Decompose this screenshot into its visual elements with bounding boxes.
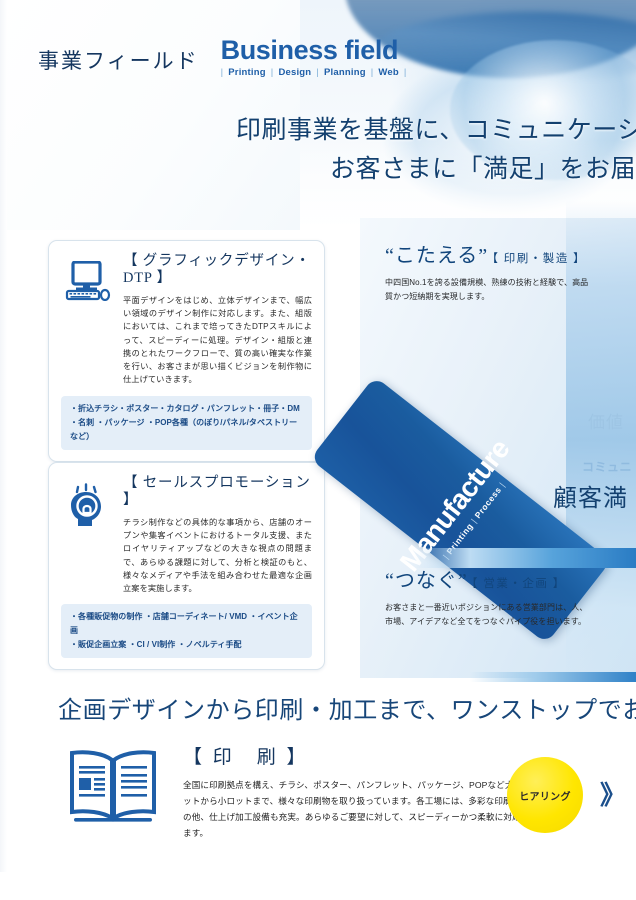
- quote-close: ”: [458, 570, 468, 592]
- header-sub-web: Web: [378, 67, 398, 78]
- chevron-right-icon: 》: [600, 782, 626, 808]
- brochure-page: 事業フィールド Business field | Printing | Desi…: [0, 0, 636, 900]
- divider: |: [221, 67, 224, 78]
- panel-title-row: “こたえる”【 印刷・製造 】: [385, 245, 635, 267]
- panel-bracket-label: 【 営業・企画 】: [472, 578, 566, 590]
- quote-open: “: [385, 245, 395, 267]
- divider: |: [316, 67, 319, 78]
- panel-title: こたえる: [395, 245, 478, 267]
- card-title: 【 グラフィックデザイン・DTP 】: [123, 253, 312, 288]
- hero-line-2: お客さまに「満足」をお届: [236, 151, 636, 190]
- quote-close: ”: [478, 245, 488, 267]
- blue-gradient-strip-lower: [470, 672, 636, 682]
- quote-open: “: [385, 570, 395, 592]
- card-tag-line: ・折込チラシ・ポスター・カタログ・パンフレット・冊子・DM: [70, 402, 303, 416]
- hearing-badge[interactable]: ヒアリング: [507, 757, 583, 833]
- open-book-icon: [60, 742, 165, 842]
- desktop-computer-icon: [61, 253, 115, 387]
- header-en-title: Business field: [221, 36, 407, 64]
- hero-headline: 印刷事業を基盤に、コミュニケーショ お客さまに「満足」をお届: [236, 112, 636, 190]
- page-edge-bottom: [0, 872, 636, 900]
- header-sub-design: Design: [278, 67, 311, 78]
- card-title: 【 セールスプロモーション 】: [123, 475, 312, 510]
- ghost-word-kachi: 価値: [588, 408, 624, 433]
- card-tag-line: ・名刺 ・パッケージ ・POP各種（のぼり/パネル/タペストリーなど）: [70, 416, 303, 444]
- card-tag-line: ・各種販促物の制作 ・店舗コーディネート/ VMD ・イベント企画: [70, 610, 303, 638]
- head-lightbulb-icon: [61, 475, 115, 595]
- card-description: チラシ制作などの具体的な事項から、店舗のオープンや集客イベントにおけるトータル支…: [123, 516, 312, 596]
- ghost-word-kokyaku: 顧客満: [553, 478, 628, 513]
- card-header: 【 セールスプロモーション 】 チラシ制作などの具体的な事項から、店舗のオープン…: [61, 475, 312, 595]
- header-en-block: Business field | Printing | Design | Pla…: [221, 36, 407, 78]
- panel-kotaeru: “こたえる”【 印刷・製造 】 中四国No.1を誇る設備規模、熟練の技術と経験で…: [385, 245, 635, 304]
- card-graphic-design-dtp[interactable]: 【 グラフィックデザイン・DTP 】 平面デザインをはじめ、立体デザインまで、幅…: [48, 240, 325, 462]
- card-body: 【 グラフィックデザイン・DTP 】 平面デザインをはじめ、立体デザインまで、幅…: [123, 253, 312, 387]
- panel-description: お客さまと一番近いポジションにある営業部門は、人、市場、アイデアなど全てをつなぐ…: [385, 601, 590, 629]
- card-header: 【 グラフィックデザイン・DTP 】 平面デザインをはじめ、立体デザインまで、幅…: [61, 253, 312, 387]
- blue-gradient-strip: [415, 548, 636, 568]
- header-subtitle-list: | Printing | Design | Planning | Web |: [221, 67, 407, 78]
- panel-description: 中四国No.1を誇る設備規模、熟練の技術と経験で、高品質かつ短納期を実現します。: [385, 276, 590, 304]
- divider: |: [271, 67, 274, 78]
- hearing-label: ヒアリング: [519, 788, 571, 803]
- header-jp-title: 事業フィールド: [38, 51, 199, 78]
- header-sub-printing: Printing: [228, 67, 266, 78]
- print-section: 【 印 刷 】 全国に印刷拠点を構え、チラシ、ポスター、パンフレット、パッケージ…: [60, 742, 530, 842]
- header-sub-planning: Planning: [324, 67, 366, 78]
- divider: |: [371, 67, 374, 78]
- bottom-headline: 企画デザインから印刷・加工まで、ワンストップでお応えする: [58, 690, 636, 725]
- divider: |: [404, 67, 407, 78]
- panel-title: つなぐ: [395, 570, 458, 592]
- card-tag-list: ・折込チラシ・ポスター・カタログ・パンフレット・冊子・DM ・名刺 ・パッケージ…: [61, 396, 312, 450]
- panel-tsunagu: “つなぐ”【 営業・企画 】 お客さまと一番近いポジションにある営業部門は、人、…: [385, 570, 635, 629]
- hero-line-1: 印刷事業を基盤に、コミュニケーショ: [236, 112, 636, 151]
- print-body: 【 印 刷 】 全国に印刷拠点を構え、チラシ、ポスター、パンフレット、パッケージ…: [183, 742, 530, 842]
- print-title: 【 印 刷 】: [183, 742, 530, 769]
- page-header: 事業フィールド Business field | Printing | Desi…: [38, 36, 407, 78]
- card-tag-list: ・各種販促物の制作 ・店舗コーディネート/ VMD ・イベント企画 ・販促企画立…: [61, 604, 312, 658]
- card-sales-promotion[interactable]: 【 セールスプロモーション 】 チラシ制作などの具体的な事項から、店舗のオープン…: [48, 462, 325, 670]
- panel-title-row: “つなぐ”【 営業・企画 】: [385, 570, 635, 592]
- card-body: 【 セールスプロモーション 】 チラシ制作などの具体的な事項から、店舗のオープン…: [123, 475, 312, 595]
- panel-bracket-label: 【 印刷・製造 】: [492, 253, 586, 265]
- ghost-word-communication: コミュニ: [582, 458, 632, 475]
- card-tag-line: ・販促企画立案 ・CI / VI制作 ・ノベルティ手配: [70, 638, 303, 652]
- card-description: 平面デザインをはじめ、立体デザインまで、幅広い領域のデザイン制作に対応します。ま…: [123, 294, 312, 387]
- page-edge-left: [0, 0, 7, 900]
- print-description: 全国に印刷拠点を構え、チラシ、ポスター、パンフレット、パッケージ、POPなど大ロ…: [183, 778, 530, 842]
